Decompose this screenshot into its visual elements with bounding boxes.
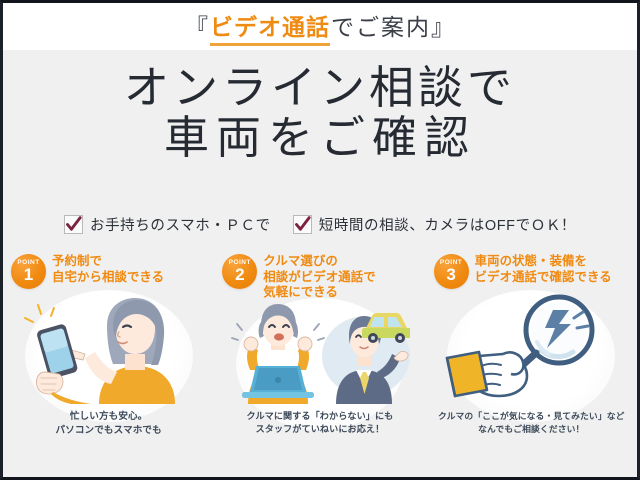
- point-title-3: 車両の状態・装備を ビデオ通話で確認できる: [475, 252, 612, 285]
- point-caption-1: 忙しい方も安心。 パソコンでもスマホでも: [3, 410, 214, 438]
- promo-banner: 『 ビデオ通話 でご案内 』 オンライン相談で 車両をご確認 お手持ちのスマホ・…: [0, 0, 640, 480]
- caption-line: パソコンでもスマホでも: [3, 424, 214, 438]
- badge-word-label: POINT: [229, 260, 251, 267]
- woman-laptop-and-staff-with-car-illustration: [230, 300, 410, 404]
- check-label-2: 短時間の相談、カメラはOFFでＯＫ！: [319, 214, 576, 235]
- headline-line-2: 車両をご確認: [3, 114, 637, 163]
- bracket-close-glyph: 』: [431, 8, 455, 42]
- point-title-line: 気軽にできる: [263, 285, 375, 301]
- point-header-1: POINT 1 予約制で 自宅から相談できる: [11, 252, 164, 289]
- checkbox-checked-icon: [293, 215, 312, 234]
- point-title-line: 車両の状態・装備を: [475, 254, 612, 270]
- checklist: お手持ちのスマホ・ＰＣで 短時間の相談、カメラはOFFでＯＫ！: [3, 214, 637, 235]
- point-column-3: POINT 3 車両の状態・装備を ビデオ通話で確認できる: [426, 248, 637, 448]
- header-band: 『 ビデオ通話 でご案内 』: [3, 3, 637, 50]
- point-badge-3: POINT 3: [434, 254, 469, 289]
- woman-with-smartphone-illustration: [19, 292, 199, 404]
- check-item-2: 短時間の相談、カメラはOFFでＯＫ！: [293, 214, 576, 235]
- caption-line: クルマに関する「わからない」にも: [214, 410, 425, 423]
- point-title-1: 予約制で 自宅から相談できる: [52, 252, 164, 285]
- header-plain-text: でご案内: [331, 8, 431, 42]
- point-title-2: クルマ選びの 相談がビデオ通話で 気軽にできる: [263, 252, 375, 301]
- header-title: 『 ビデオ通話 でご案内 』: [185, 8, 455, 46]
- point-caption-3: クルマの「ここが気になる・見てみたい」など なんでもご相談ください！: [426, 410, 637, 436]
- badge-number-label: 2: [235, 266, 244, 283]
- point-header-2: POINT 2 クルマ選びの 相談がビデオ通話で 気軽にできる: [222, 252, 375, 301]
- point-title-line: 自宅から相談できる: [52, 270, 164, 286]
- point-badge-1: POINT 1: [11, 254, 46, 289]
- badge-number-label: 3: [446, 266, 455, 283]
- page-title: オンライン相談で 車両をご確認: [3, 64, 637, 162]
- point-header-3: POINT 3 車両の状態・装備を ビデオ通話で確認できる: [434, 252, 612, 289]
- check-item-1: お手持ちのスマホ・ＰＣで: [64, 214, 271, 235]
- body-area: オンライン相談で 車両をご確認 お手持ちのスマホ・ＰＣで 短時間の: [3, 50, 637, 477]
- badge-word-label: POINT: [17, 260, 39, 267]
- caption-line: スタッフがていねいにお応え！: [214, 423, 425, 436]
- point-title-line: 相談がビデオ通話で: [263, 270, 375, 286]
- caption-line: なんでもご相談ください！: [426, 423, 637, 436]
- point-badge-2: POINT 2: [222, 254, 257, 289]
- point-caption-2: クルマに関する「わからない」にも スタッフがていねいにお応え！: [214, 410, 425, 436]
- check-label-1: お手持ちのスマホ・ＰＣで: [90, 214, 271, 235]
- header-accent-text: ビデオ通話: [210, 8, 330, 46]
- caption-line: クルマの「ここが気になる・見てみたい」など: [426, 410, 637, 423]
- points-row: POINT 1 予約制で 自宅から相談できる: [3, 248, 637, 448]
- point-title-line: ビデオ通話で確認できる: [475, 270, 612, 286]
- point-title-line: クルマ選びの: [263, 254, 375, 270]
- point-title-line: 予約制で: [52, 254, 164, 270]
- hand-holding-magnifying-glass-illustration: [441, 292, 621, 404]
- badge-number-label: 1: [24, 266, 33, 283]
- bracket-open-glyph: 『: [185, 8, 209, 42]
- headline-line-1: オンライン相談で: [3, 64, 637, 112]
- checkbox-checked-icon: [64, 215, 83, 234]
- caption-line: 忙しい方も安心。: [3, 410, 214, 424]
- badge-word-label: POINT: [440, 260, 462, 267]
- point-column-2: POINT 2 クルマ選びの 相談がビデオ通話で 気軽にできる: [214, 248, 425, 448]
- point-column-1: POINT 1 予約制で 自宅から相談できる: [3, 248, 214, 448]
